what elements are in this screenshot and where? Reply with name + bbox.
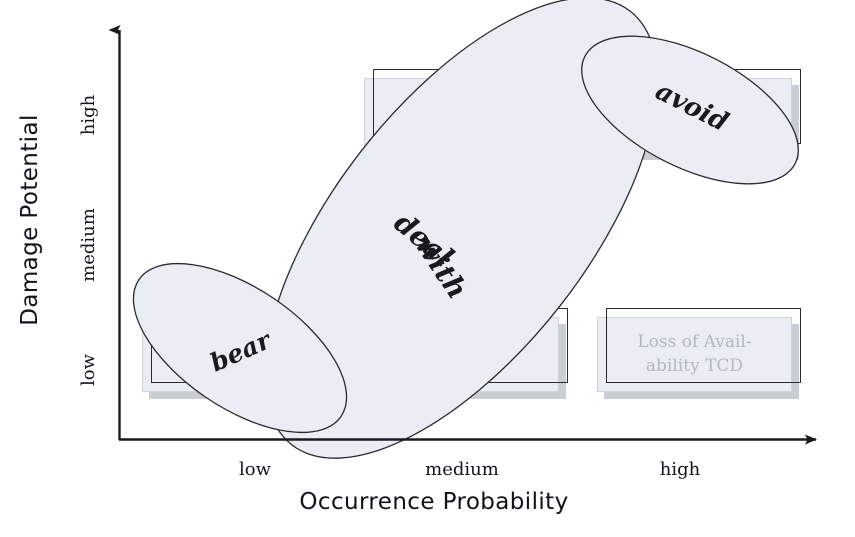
risk-matrix-diagram: Loss of In- tegrity TCD Loss of Confi- d… xyxy=(0,0,855,537)
axis-layer xyxy=(0,0,855,537)
